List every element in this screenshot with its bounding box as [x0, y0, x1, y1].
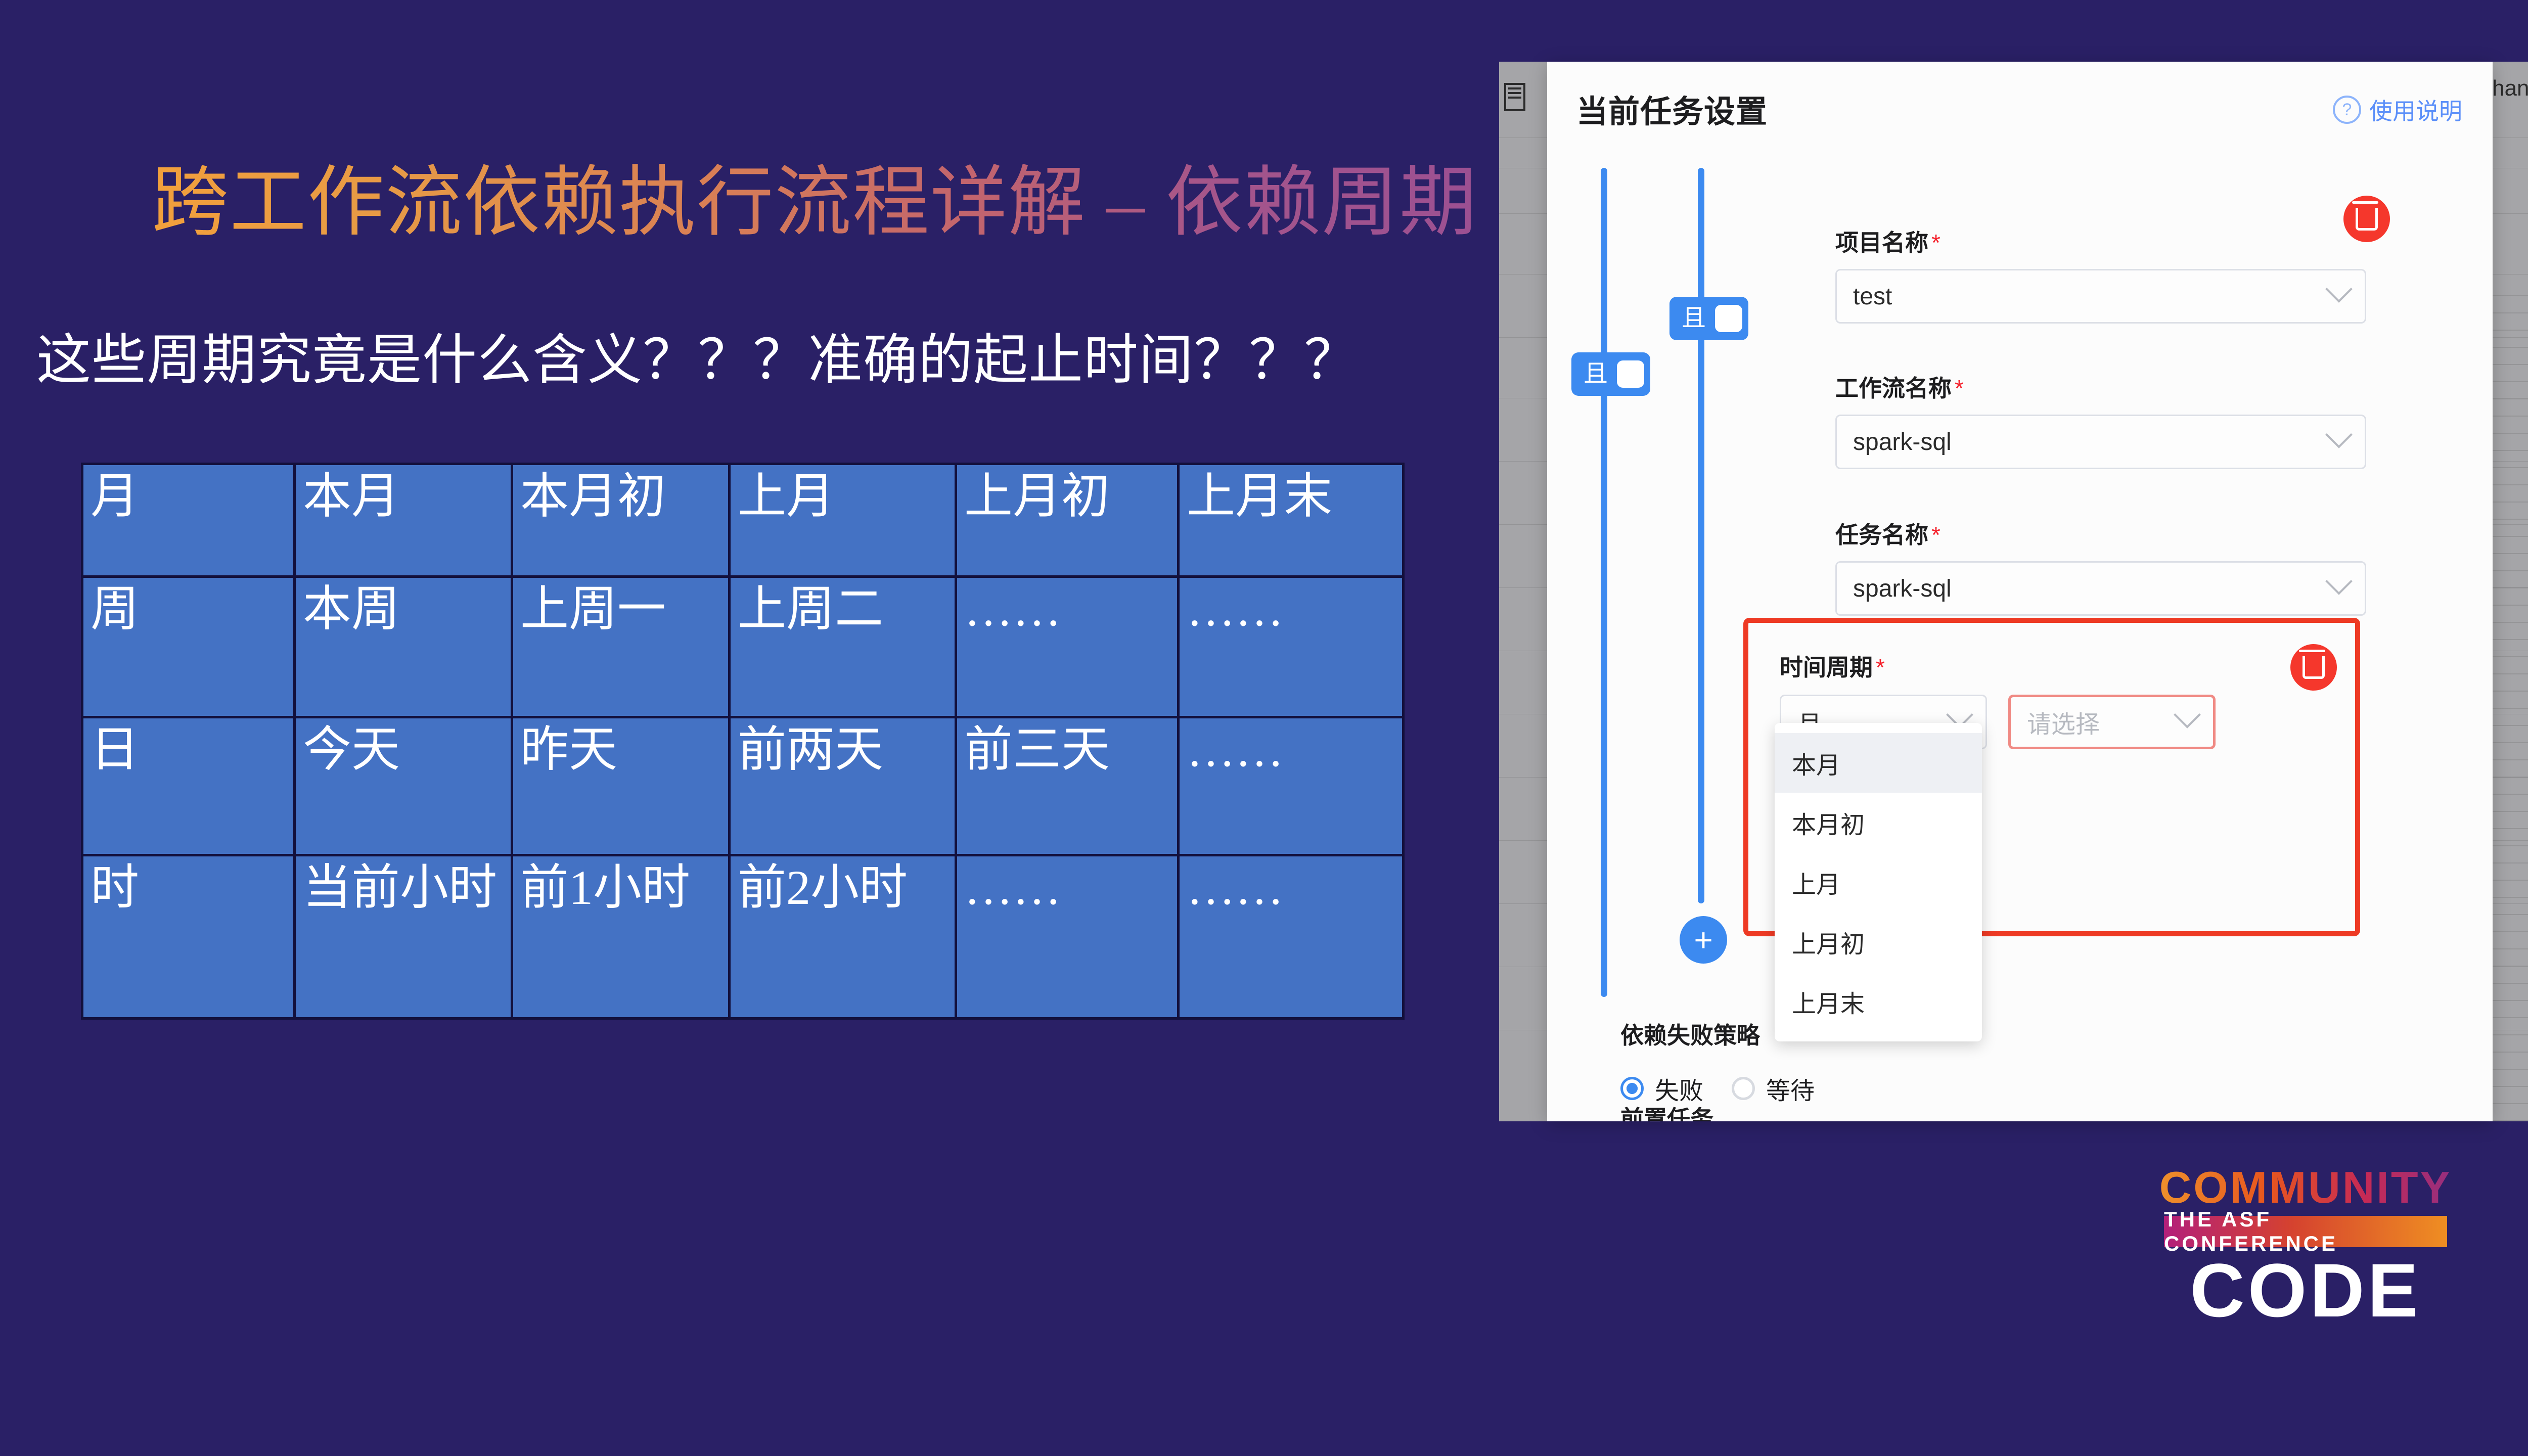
help-link[interactable]: ? 使用说明 [2333, 93, 2462, 126]
workflow-name-value: spark-sql [1853, 428, 2329, 456]
task-name-field: 任务名称* spark-sql [1835, 517, 2366, 616]
time-period-detail-dropdown: 本月 本月初 上月 上月初 上月末 [1775, 723, 1982, 1041]
required-mark: * [1876, 654, 1885, 680]
dropdown-option-2[interactable]: 上月 [1775, 852, 1982, 912]
table-cell: 上月 [730, 464, 956, 577]
table-row: 月 本月 本月初 上月 上月初 上月末 [82, 464, 1404, 577]
chevron-down-icon [2325, 421, 2353, 448]
time-period-detail-select[interactable]: 请选择 [2008, 695, 2216, 749]
add-dependency-button[interactable]: + [1680, 916, 1727, 964]
required-mark: * [1955, 375, 1964, 401]
table-cell: 本月初 [512, 464, 730, 577]
table-row: 周 本周 上周一 上周二 …… …… [82, 577, 1404, 717]
plus-icon: + [1694, 924, 1712, 956]
table-cell: 周 [82, 577, 295, 717]
table-cell: 月 [82, 464, 295, 577]
table-row: 日 今天 昨天 前两天 前三天 …… [82, 717, 1404, 855]
table-row: 时 当前小时 前1小时 前2小时 …… …… [82, 855, 1404, 1019]
radio-wait[interactable]: 等待 [1732, 1071, 1815, 1106]
table-cell: 上周二 [730, 577, 956, 717]
table-cell: 前2小时 [730, 855, 956, 1019]
table-cell: 日 [82, 717, 295, 855]
task-name-label: 任务名称* [1835, 517, 2366, 550]
required-mark: * [1931, 522, 1940, 548]
project-name-select[interactable]: test [1835, 269, 2366, 324]
table-cell: 前三天 [956, 717, 1179, 855]
and-toggle-switch[interactable] [1715, 305, 1742, 332]
radio-dot-selected [1620, 1077, 1644, 1100]
list-icon [1504, 83, 1525, 111]
radio-dot [1732, 1077, 1755, 1100]
dialog-title: 当前任务设置 [1576, 86, 1768, 131]
task-name-select[interactable]: spark-sql [1835, 561, 2366, 616]
chevron-down-icon [2325, 568, 2353, 595]
help-link-label: 使用说明 [2369, 93, 2462, 126]
task-name-value: spark-sql [1853, 575, 2329, 603]
dependency-rail-inner [1698, 168, 1704, 903]
table-cell: 昨天 [512, 717, 730, 855]
logo-community-text: COMMUNITY [2144, 1165, 2467, 1210]
project-name-value: test [1853, 283, 2329, 310]
and-toggle-switch[interactable] [1617, 360, 1644, 388]
table-cell: 时 [82, 855, 295, 1019]
dropdown-option-4[interactable]: 上月末 [1775, 972, 1982, 1031]
time-period-label: 时间周期* [1780, 649, 2216, 682]
table-cell: 本月 [295, 464, 512, 577]
trash-icon [2303, 656, 2325, 679]
and-badge-label: 且 [1682, 306, 1706, 331]
current-task-settings-dialog: 当前任务设置 ? 使用说明 且 且 项目名称* test [1547, 62, 2493, 1121]
dropdown-option-3[interactable]: 上月初 [1775, 912, 1982, 972]
slide-canvas: 跨工作流依赖执行流程详解 – 依赖周期 这些周期究竟是什么含义？？？准确的起止时… [0, 0, 2528, 1456]
table-cell: …… [1179, 577, 1404, 717]
chevron-down-icon [2325, 276, 2353, 303]
logo-code-text: CODE [2144, 1252, 2467, 1328]
table-cell: 当前小时 [295, 855, 512, 1019]
time-period-detail-placeholder: 请选择 [2027, 704, 2178, 740]
page-title: 跨工作流依赖执行流程详解 – 依赖周期 [152, 163, 1477, 244]
chevron-down-icon [2174, 701, 2201, 729]
project-name-field: 项目名称* test [1835, 224, 2366, 324]
workflow-name-label: 工作流名称* [1835, 370, 2366, 403]
table-cell: …… [1179, 855, 1404, 1019]
table-cell: 上月初 [956, 464, 1179, 577]
table-cell: …… [956, 855, 1179, 1019]
table-cell: 前1小时 [512, 855, 730, 1019]
radio-wait-label: 等待 [1766, 1071, 1815, 1106]
community-over-code-logo: COMMUNITY THE ASF CONFERENCE CODE [2144, 1165, 2467, 1328]
and-badge-label: 且 [1584, 362, 1608, 386]
delete-time-period-button[interactable] [2290, 644, 2337, 691]
required-mark: * [1931, 230, 1940, 256]
workflow-name-field: 工作流名称* spark-sql [1835, 370, 2366, 469]
period-reference-table: 月 本月 本月初 上月 上月初 上月末 周 本周 上周一 上周二 …… …… 日… [81, 463, 1405, 1020]
and-badge-outer[interactable]: 且 [1571, 352, 1650, 396]
question-circle-icon: ? [2333, 96, 2361, 124]
logo-tagline-bar: THE ASF CONFERENCE [2164, 1216, 2447, 1247]
table-cell: …… [1179, 717, 1404, 855]
dropdown-option-0[interactable]: 本月 [1775, 733, 1982, 793]
table-cell: 前两天 [730, 717, 956, 855]
table-cell: 上周一 [512, 577, 730, 717]
project-name-label: 项目名称* [1835, 224, 2366, 258]
pre-task-label: 前置任务 [1620, 1101, 1713, 1121]
dropdown-option-1[interactable]: 本月初 [1775, 793, 1982, 852]
and-badge-inner[interactable]: 且 [1669, 297, 1748, 340]
table-cell: …… [956, 577, 1179, 717]
table-cell: 今天 [295, 717, 512, 855]
dependency-rail-outer [1601, 168, 1607, 997]
table-cell: 本周 [295, 577, 512, 717]
table-cell: 上月末 [1179, 464, 1404, 577]
workflow-name-select[interactable]: spark-sql [1835, 415, 2366, 469]
page-subtitle: 这些周期究竟是什么含义？？？准确的起止时间？？？ [36, 331, 1359, 391]
